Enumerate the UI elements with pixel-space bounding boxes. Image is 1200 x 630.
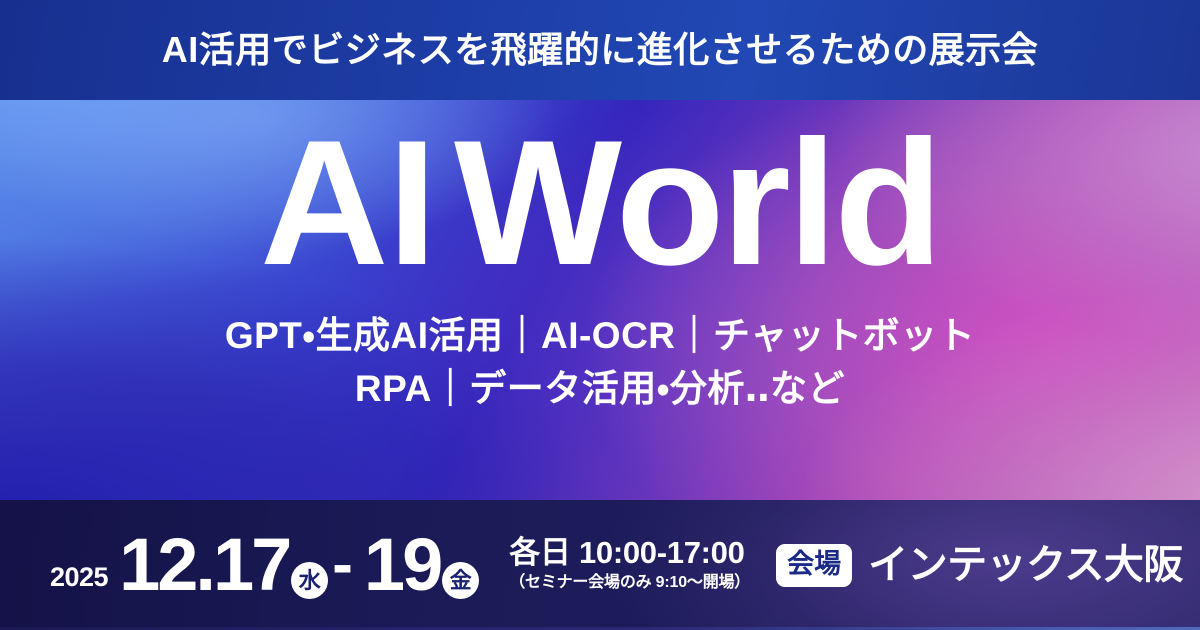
event-info-bar: 2025 12.17 水 - 19 金 各日 10:00-17:00 （セミナー…: [0, 500, 1200, 630]
event-key-visual: AI活用でビジネスを飛躍的に進化させるための展示会 AI World GPT・生…: [0, 0, 1200, 630]
event-seminar-note: （セミナー会場のみ 9:10〜開場）: [509, 573, 750, 592]
event-end-date: 19: [364, 528, 440, 602]
start-day-of-week-badge: 水: [291, 562, 328, 599]
hero-subtitle-line-1: GPT・生成AI活用｜AI-OCR｜チャットボット: [225, 314, 975, 358]
logo-text-ai: AI: [260, 114, 436, 292]
hero-content: AI World GPT・生成AI活用｜AI-OCR｜チャットボット RPA｜デ…: [0, 100, 1200, 500]
event-logo: AI World: [260, 114, 940, 292]
event-year: 2025: [50, 564, 108, 591]
venue-name-text: インテックス大阪: [868, 545, 1183, 585]
venue-block: インテックス大阪 （1・2号館）: [868, 545, 1200, 585]
event-catchcopy: AI活用でビジネスを飛躍的に進化させるための展示会: [162, 32, 1039, 68]
hero-stage: AI World GPT・生成AI活用｜AI-OCR｜チャットボット RPA｜デ…: [0, 100, 1200, 500]
hero-subtitle-line-2: RPA｜データ活用・分析‥など: [355, 367, 845, 411]
date-range-separator: -: [332, 534, 351, 596]
venue-label-badge: 会場: [776, 544, 852, 587]
event-start-date: 12.17: [119, 528, 289, 602]
end-day-of-week-badge: 金: [442, 562, 479, 599]
header-banner: AI活用でビジネスを飛躍的に進化させるための展示会: [0, 0, 1200, 100]
event-date-block: 2025 12.17 水 - 19 金: [50, 528, 479, 602]
logo-text-world: World: [454, 114, 940, 292]
event-opening-hours: 各日 10:00-17:00: [509, 536, 750, 571]
event-time-block: 各日 10:00-17:00 （セミナー会場のみ 9:10〜開場）: [509, 536, 750, 593]
venue-hall-text: （1・2号館）: [1184, 556, 1200, 583]
